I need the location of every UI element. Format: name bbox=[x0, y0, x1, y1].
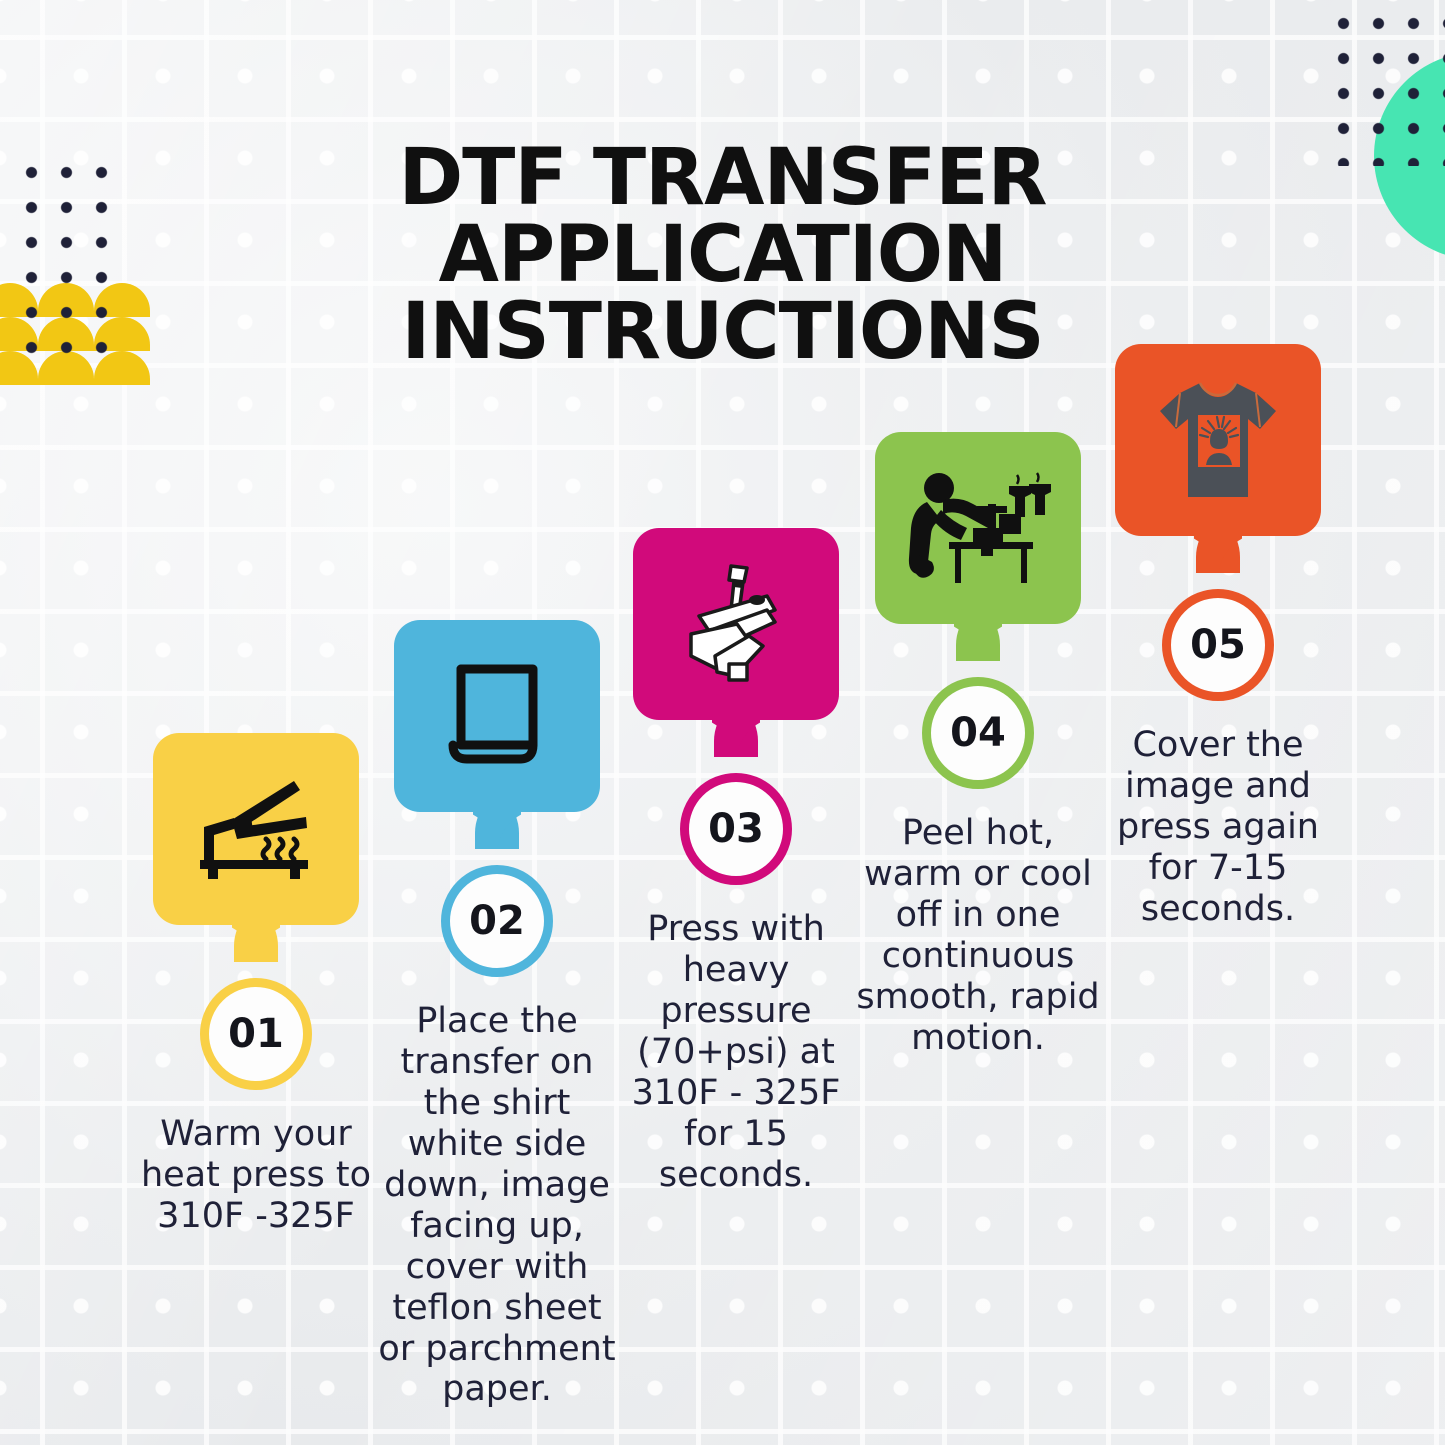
step-number-badge-03: 03 bbox=[680, 773, 792, 885]
pin-02 bbox=[394, 620, 600, 871]
printed-tshirt-icon bbox=[1154, 377, 1282, 503]
step-number-badge-01: 01 bbox=[200, 978, 312, 1090]
pin-neck-03 bbox=[633, 717, 839, 779]
pin-neck-01 bbox=[153, 922, 359, 984]
pin-card-02[interactable] bbox=[394, 620, 600, 812]
step-description-05: Cover the image and press again for 7-15… bbox=[1092, 725, 1344, 930]
step-item-01[interactable]: 01 Warm your heat press to 310F -325F bbox=[136, 733, 376, 1237]
step-item-03[interactable]: 03 Press with heavy pressure (70+psi) at… bbox=[616, 528, 856, 1196]
pin-05 bbox=[1115, 344, 1321, 595]
peel-transfer-person-icon bbox=[903, 466, 1053, 590]
pin-card-01[interactable] bbox=[153, 733, 359, 925]
heat-press-machine-icon bbox=[671, 560, 801, 688]
pin-neck-05 bbox=[1115, 533, 1321, 595]
step-number-badge-05: 05 bbox=[1162, 589, 1274, 701]
page-title: DTF TRANSFER APPLICATION INSTRUCTIONS bbox=[0, 140, 1445, 372]
step-item-05[interactable]: 05 Cover the image and press again for 7… bbox=[1098, 344, 1338, 930]
step-description-03: Press with heavy pressure (70+psi) at 31… bbox=[610, 909, 862, 1196]
step-number-badge-04: 04 bbox=[922, 677, 1034, 789]
heat-press-icon bbox=[190, 777, 322, 881]
pin-card-03[interactable] bbox=[633, 528, 839, 720]
pin-card-05[interactable] bbox=[1115, 344, 1321, 536]
pin-03 bbox=[633, 528, 839, 779]
pin-card-04[interactable] bbox=[875, 432, 1081, 624]
step-description-02: Place the transfer on the shirt white si… bbox=[371, 1001, 623, 1410]
pin-neck-04 bbox=[875, 621, 1081, 683]
step-description-01: Warm your heat press to 310F -325F bbox=[130, 1114, 382, 1237]
step-item-04[interactable]: 04 Peel hot, warm or cool off in one con… bbox=[858, 432, 1098, 1059]
pin-neck-02 bbox=[394, 809, 600, 871]
step-description-04: Peel hot, warm or cool off in one contin… bbox=[852, 813, 1104, 1059]
transfer-sheet-icon bbox=[441, 657, 553, 775]
pin-01 bbox=[153, 733, 359, 984]
step-item-02[interactable]: 02 Place the transfer on the shirt white… bbox=[377, 620, 617, 1410]
pin-04 bbox=[875, 432, 1081, 683]
step-number-badge-02: 02 bbox=[441, 865, 553, 977]
